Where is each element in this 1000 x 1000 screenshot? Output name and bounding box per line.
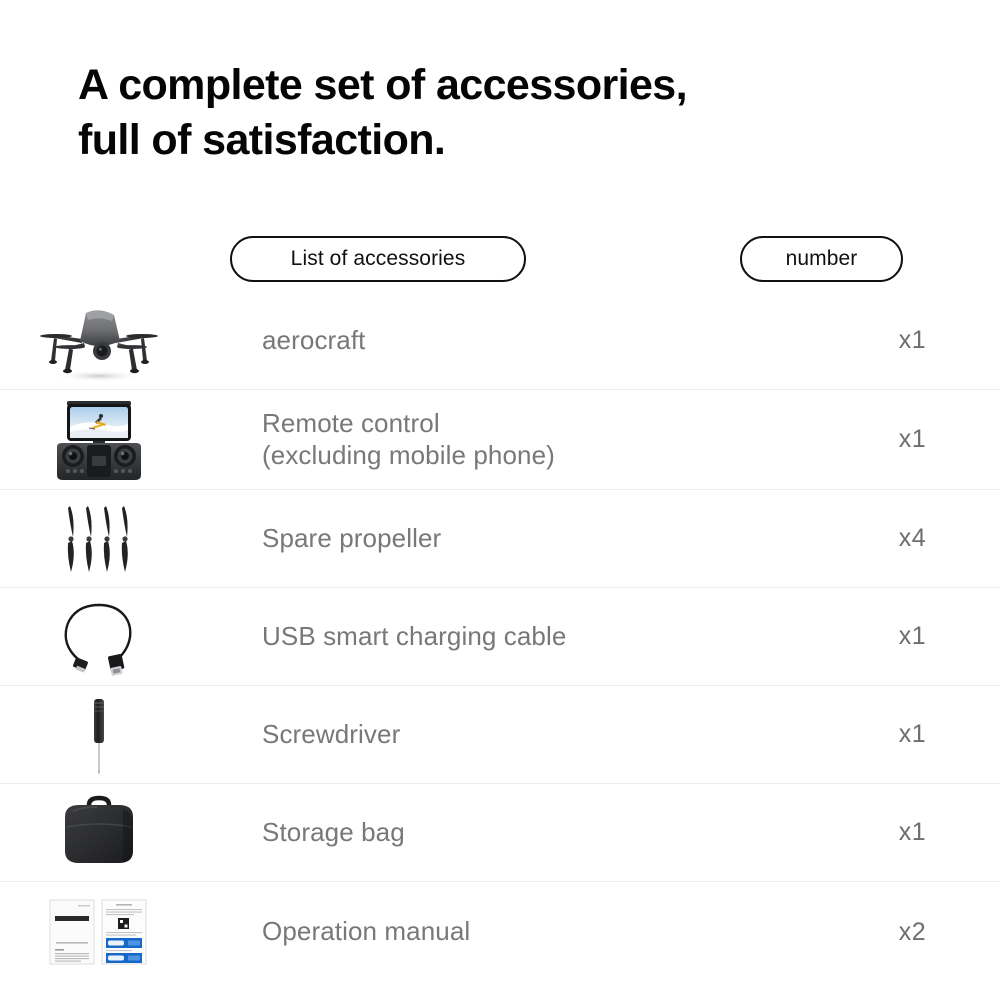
row-label: Spare propeller	[185, 523, 825, 555]
row-quantity: x1	[825, 720, 1000, 749]
table-row: Storage bag x1	[0, 784, 1000, 882]
row-label-main: Operation manual	[262, 916, 470, 946]
operation-manual-image	[0, 882, 185, 982]
page-title-line-1: A complete set of accessories,	[78, 58, 898, 113]
screwdriver-image	[0, 686, 185, 783]
usb-charging-cable-icon	[54, 597, 144, 677]
page-title-line-2: full of satisfaction.	[78, 113, 898, 168]
row-label: Remote control (excluding mobile phone)	[185, 408, 825, 471]
operation-manual-icon	[44, 894, 154, 970]
table-row: Spare propeller x4	[0, 490, 1000, 588]
header-pill-accessories-label: List of accessories	[291, 247, 466, 271]
row-label-main: Remote control	[262, 408, 440, 438]
table-row: Operation manual x2	[0, 882, 1000, 982]
row-quantity: x2	[825, 918, 1000, 947]
table-row: aerocraft x1	[0, 292, 1000, 390]
remote-control-icon	[49, 397, 149, 483]
usb-charging-cable-image	[0, 588, 185, 685]
row-label: Screwdriver	[185, 719, 825, 751]
row-quantity: x1	[825, 425, 1000, 454]
row-label-main: Storage bag	[262, 817, 405, 847]
row-label: Operation manual	[185, 916, 825, 948]
row-quantity: x4	[825, 524, 1000, 553]
row-quantity: x1	[825, 818, 1000, 847]
row-quantity: x1	[825, 326, 1000, 355]
drone-aerocraft-image	[0, 292, 185, 389]
accessories-page: A complete set of accessories, full of s…	[0, 0, 1000, 1000]
header-pill-number-label: number	[786, 247, 858, 271]
storage-bag-icon	[53, 793, 145, 873]
row-label-main: Screwdriver	[262, 719, 400, 749]
remote-control-image	[0, 390, 185, 489]
accessories-table: aerocraft x1	[0, 292, 1000, 982]
row-label: USB smart charging cable	[185, 621, 825, 653]
row-label: Storage bag	[185, 817, 825, 849]
row-quantity: x1	[825, 622, 1000, 651]
row-label-main: Spare propeller	[262, 523, 441, 553]
page-title: A complete set of accessories, full of s…	[78, 58, 898, 168]
table-row: Remote control (excluding mobile phone) …	[0, 390, 1000, 490]
screwdriver-icon	[79, 693, 119, 777]
table-row: Screwdriver x1	[0, 686, 1000, 784]
row-label-main: aerocraft	[262, 325, 366, 355]
spare-propeller-image	[0, 490, 185, 587]
storage-bag-image	[0, 784, 185, 881]
table-header-row: List of accessories number	[0, 236, 1000, 284]
spare-propeller-icon	[57, 502, 141, 576]
header-pill-accessories: List of accessories	[230, 236, 526, 282]
table-row: USB smart charging cable x1	[0, 588, 1000, 686]
drone-aerocraft-icon	[38, 299, 160, 383]
header-pill-number: number	[740, 236, 903, 282]
row-label-sub: (excluding mobile phone)	[262, 440, 825, 472]
row-label: aerocraft	[185, 325, 825, 357]
row-label-main: USB smart charging cable	[262, 621, 566, 651]
